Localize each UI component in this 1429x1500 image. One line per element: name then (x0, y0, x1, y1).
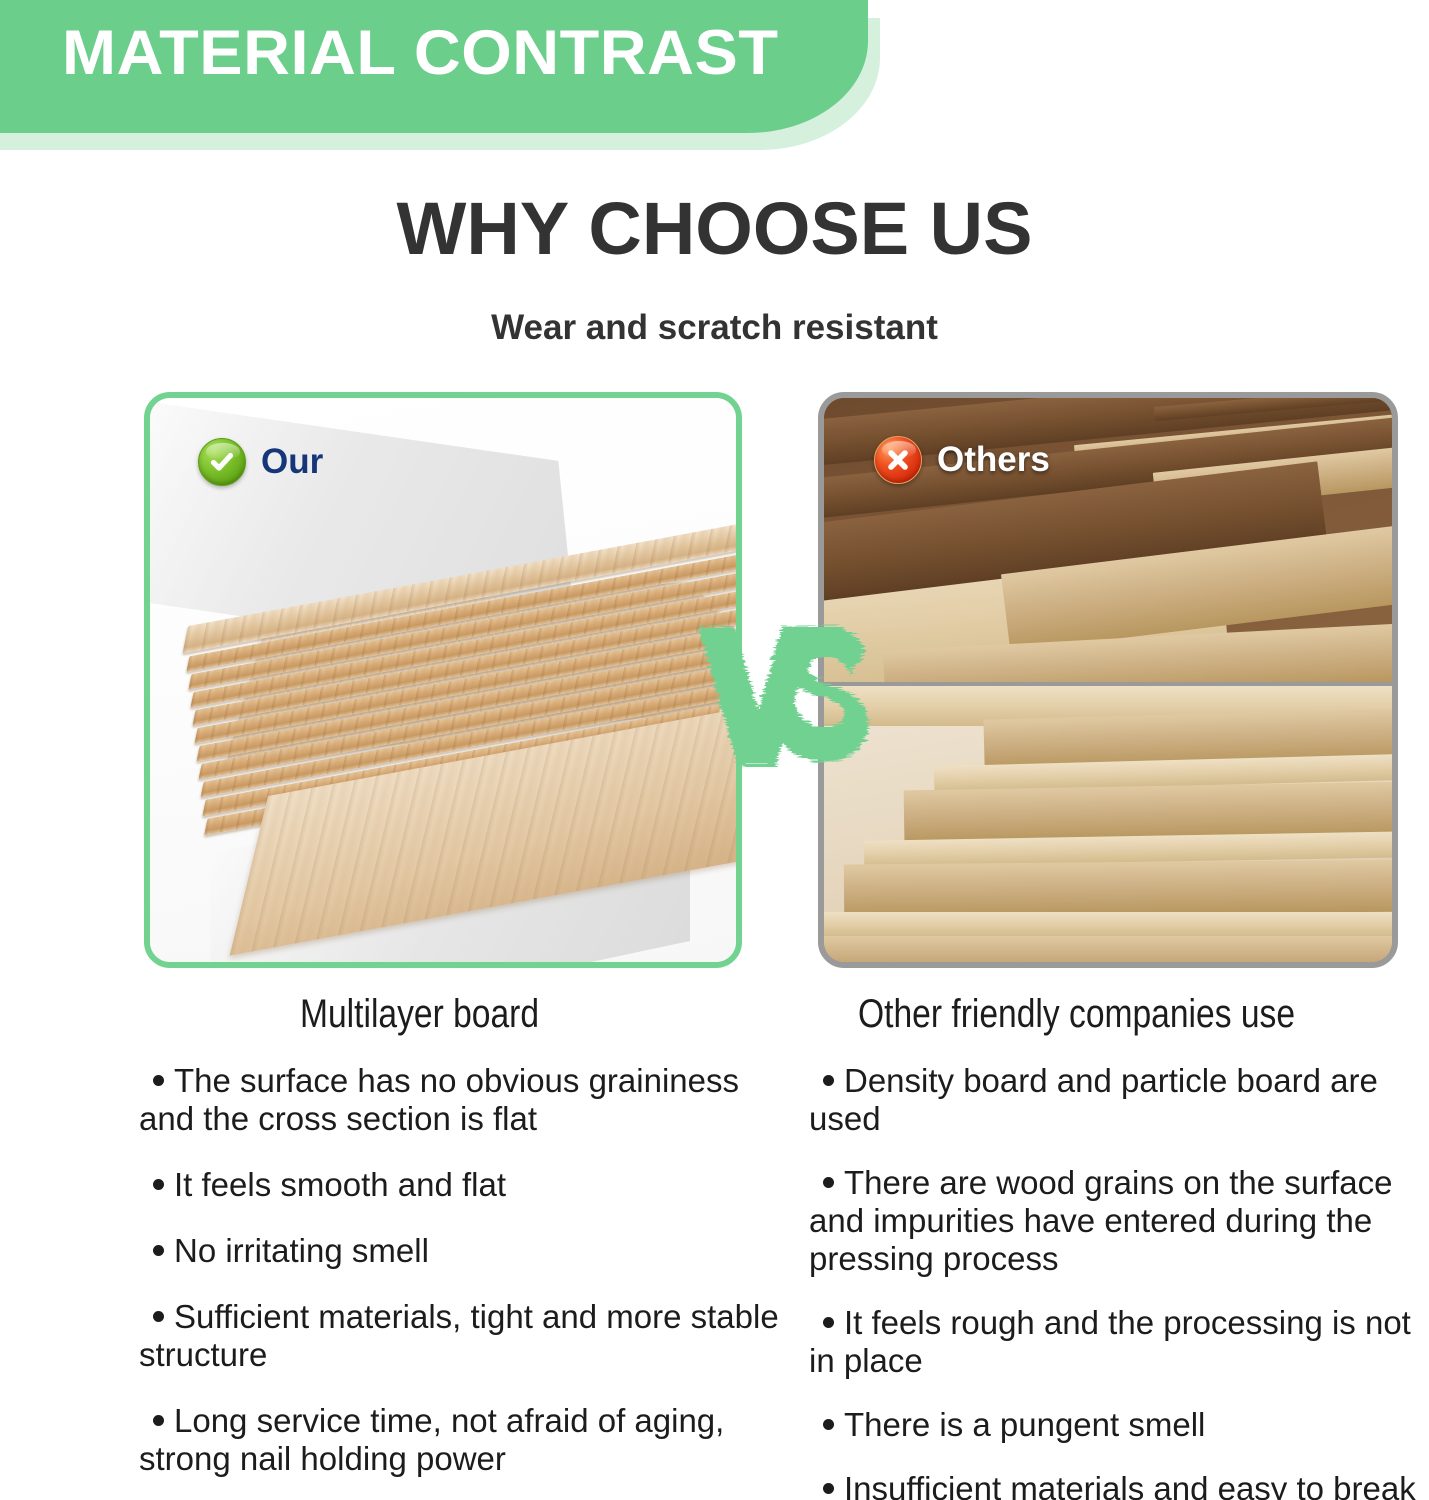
bullet-dot-icon (153, 1075, 164, 1086)
badge-our: Our (198, 438, 323, 486)
list-item-text: There are wood grains on the surface and… (809, 1164, 1392, 1277)
comparison-panel-our: Our (144, 392, 742, 968)
caption-our: Multilayer board (300, 992, 539, 1037)
badge-others: Others (874, 436, 1050, 484)
check-circle-icon (198, 438, 246, 486)
list-item: There is a pungent smell (809, 1406, 1429, 1444)
x-circle-icon (874, 436, 922, 484)
particle-board-photo-bottom (824, 686, 1392, 962)
list-item: Long service time, not afraid of aging, … (139, 1402, 779, 1478)
bullet-dot-icon (153, 1415, 164, 1426)
bullet-dot-icon (823, 1419, 834, 1430)
material-contrast-infographic: MATERIAL CONTRAST WHY CHOOSE US Wear and… (0, 0, 1429, 1500)
bullet-list-others: Density board and particle board are use… (809, 1062, 1429, 1500)
check-glyph (207, 447, 237, 477)
list-item-text: Sufficient materials, tight and more sta… (139, 1298, 779, 1373)
banner-title: MATERIAL CONTRAST (62, 17, 778, 89)
list-item: It feels rough and the processing is not… (809, 1304, 1429, 1380)
bullet-list-our: The surface has no obvious graininess an… (139, 1062, 779, 1500)
list-item: No irritating smell (139, 1232, 779, 1270)
list-item-text: Density board and particle board are use… (809, 1062, 1378, 1137)
page-title: WHY CHOOSE US (0, 186, 1429, 271)
page-subtitle: Wear and scratch resistant (0, 308, 1429, 348)
list-item-text: The surface has no obvious graininess an… (139, 1062, 739, 1137)
list-item: Density board and particle board are use… (809, 1062, 1429, 1138)
bullet-dot-icon (823, 1317, 834, 1328)
list-item-text: No irritating smell (174, 1232, 429, 1269)
x-glyph (883, 445, 913, 475)
list-item: The surface has no obvious graininess an… (139, 1062, 779, 1138)
list-item-text: It feels smooth and flat (174, 1166, 506, 1203)
list-item: There are wood grains on the surface and… (809, 1164, 1429, 1278)
bullet-dot-icon (153, 1245, 164, 1256)
comparison-panel-others: Others (818, 392, 1398, 968)
bullet-dot-icon (153, 1179, 164, 1190)
list-item-text: Insufficient materials and easy to break (844, 1470, 1416, 1500)
bullet-dot-icon (823, 1177, 834, 1188)
caption-others: Other friendly companies use (858, 992, 1295, 1037)
list-item-text: There is a pungent smell (844, 1406, 1205, 1443)
list-item-text: It feels rough and the processing is not… (809, 1304, 1411, 1379)
bullet-dot-icon (153, 1311, 164, 1322)
list-item: Insufficient materials and easy to break (809, 1470, 1429, 1500)
list-item-text: Long service time, not afraid of aging, … (139, 1402, 724, 1477)
list-item: Sufficient materials, tight and more sta… (139, 1298, 779, 1374)
bullet-dot-icon (823, 1075, 834, 1086)
badge-our-label: Our (261, 442, 323, 482)
header-banner: MATERIAL CONTRAST (0, 0, 930, 160)
badge-others-label: Others (937, 440, 1050, 480)
bullet-dot-icon (823, 1483, 834, 1494)
list-item: It feels smooth and flat (139, 1166, 779, 1204)
